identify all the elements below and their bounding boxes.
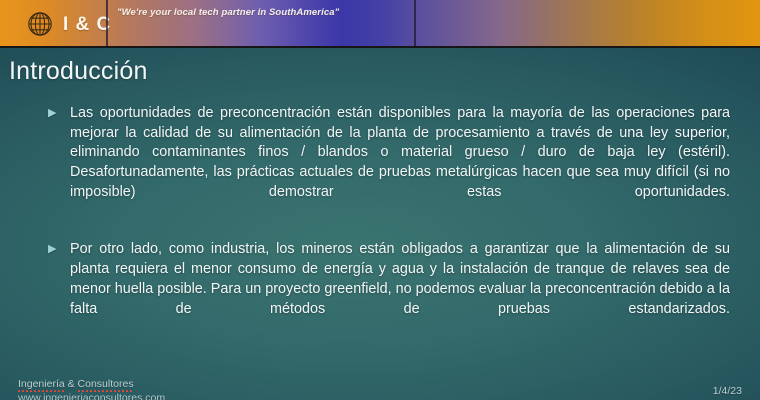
globe-icon bbox=[26, 10, 54, 38]
footer-company-line: Ingeniería & Consultores bbox=[18, 378, 348, 392]
header-divider-left bbox=[106, 0, 108, 48]
bullet-paragraph: Por otro lado, como industria, los miner… bbox=[70, 240, 730, 339]
list-item: ▶ Las oportunidades de preconcentración … bbox=[48, 104, 730, 222]
footer-date: 1/4/23 bbox=[713, 385, 742, 399]
footer-company-word-2: Consultores bbox=[78, 378, 134, 392]
header-underline bbox=[0, 46, 760, 48]
footer-company-block: Ingeniería & Consultores www.ingenieriac… bbox=[18, 378, 348, 400]
company-logo: I & C bbox=[26, 6, 111, 42]
triangle-bullet-icon: ▶ bbox=[48, 240, 70, 255]
logo-text: I & C bbox=[63, 15, 111, 34]
company-tagline: "We're your local tech partner in SouthA… bbox=[117, 7, 347, 20]
header-divider-right bbox=[414, 0, 416, 48]
footer-website-link[interactable]: www.ingenieriaconsultores.com bbox=[18, 392, 348, 400]
slide-canvas: I & C "We're your local tech partner in … bbox=[0, 0, 760, 400]
triangle-bullet-icon: ▶ bbox=[48, 104, 70, 119]
footer-company-ampersand: & bbox=[65, 378, 78, 390]
page-title: Introducción bbox=[9, 58, 148, 86]
bullet-paragraph: Las oportunidades de preconcentración es… bbox=[70, 104, 730, 222]
list-item: ▶ Por otro lado, como industria, los min… bbox=[48, 240, 730, 339]
slide-body: ▶ Las oportunidades de preconcentración … bbox=[48, 104, 730, 357]
footer-company-word-1: Ingeniería bbox=[18, 378, 65, 392]
slide-header-banner: I & C "We're your local tech partner in … bbox=[0, 0, 760, 48]
